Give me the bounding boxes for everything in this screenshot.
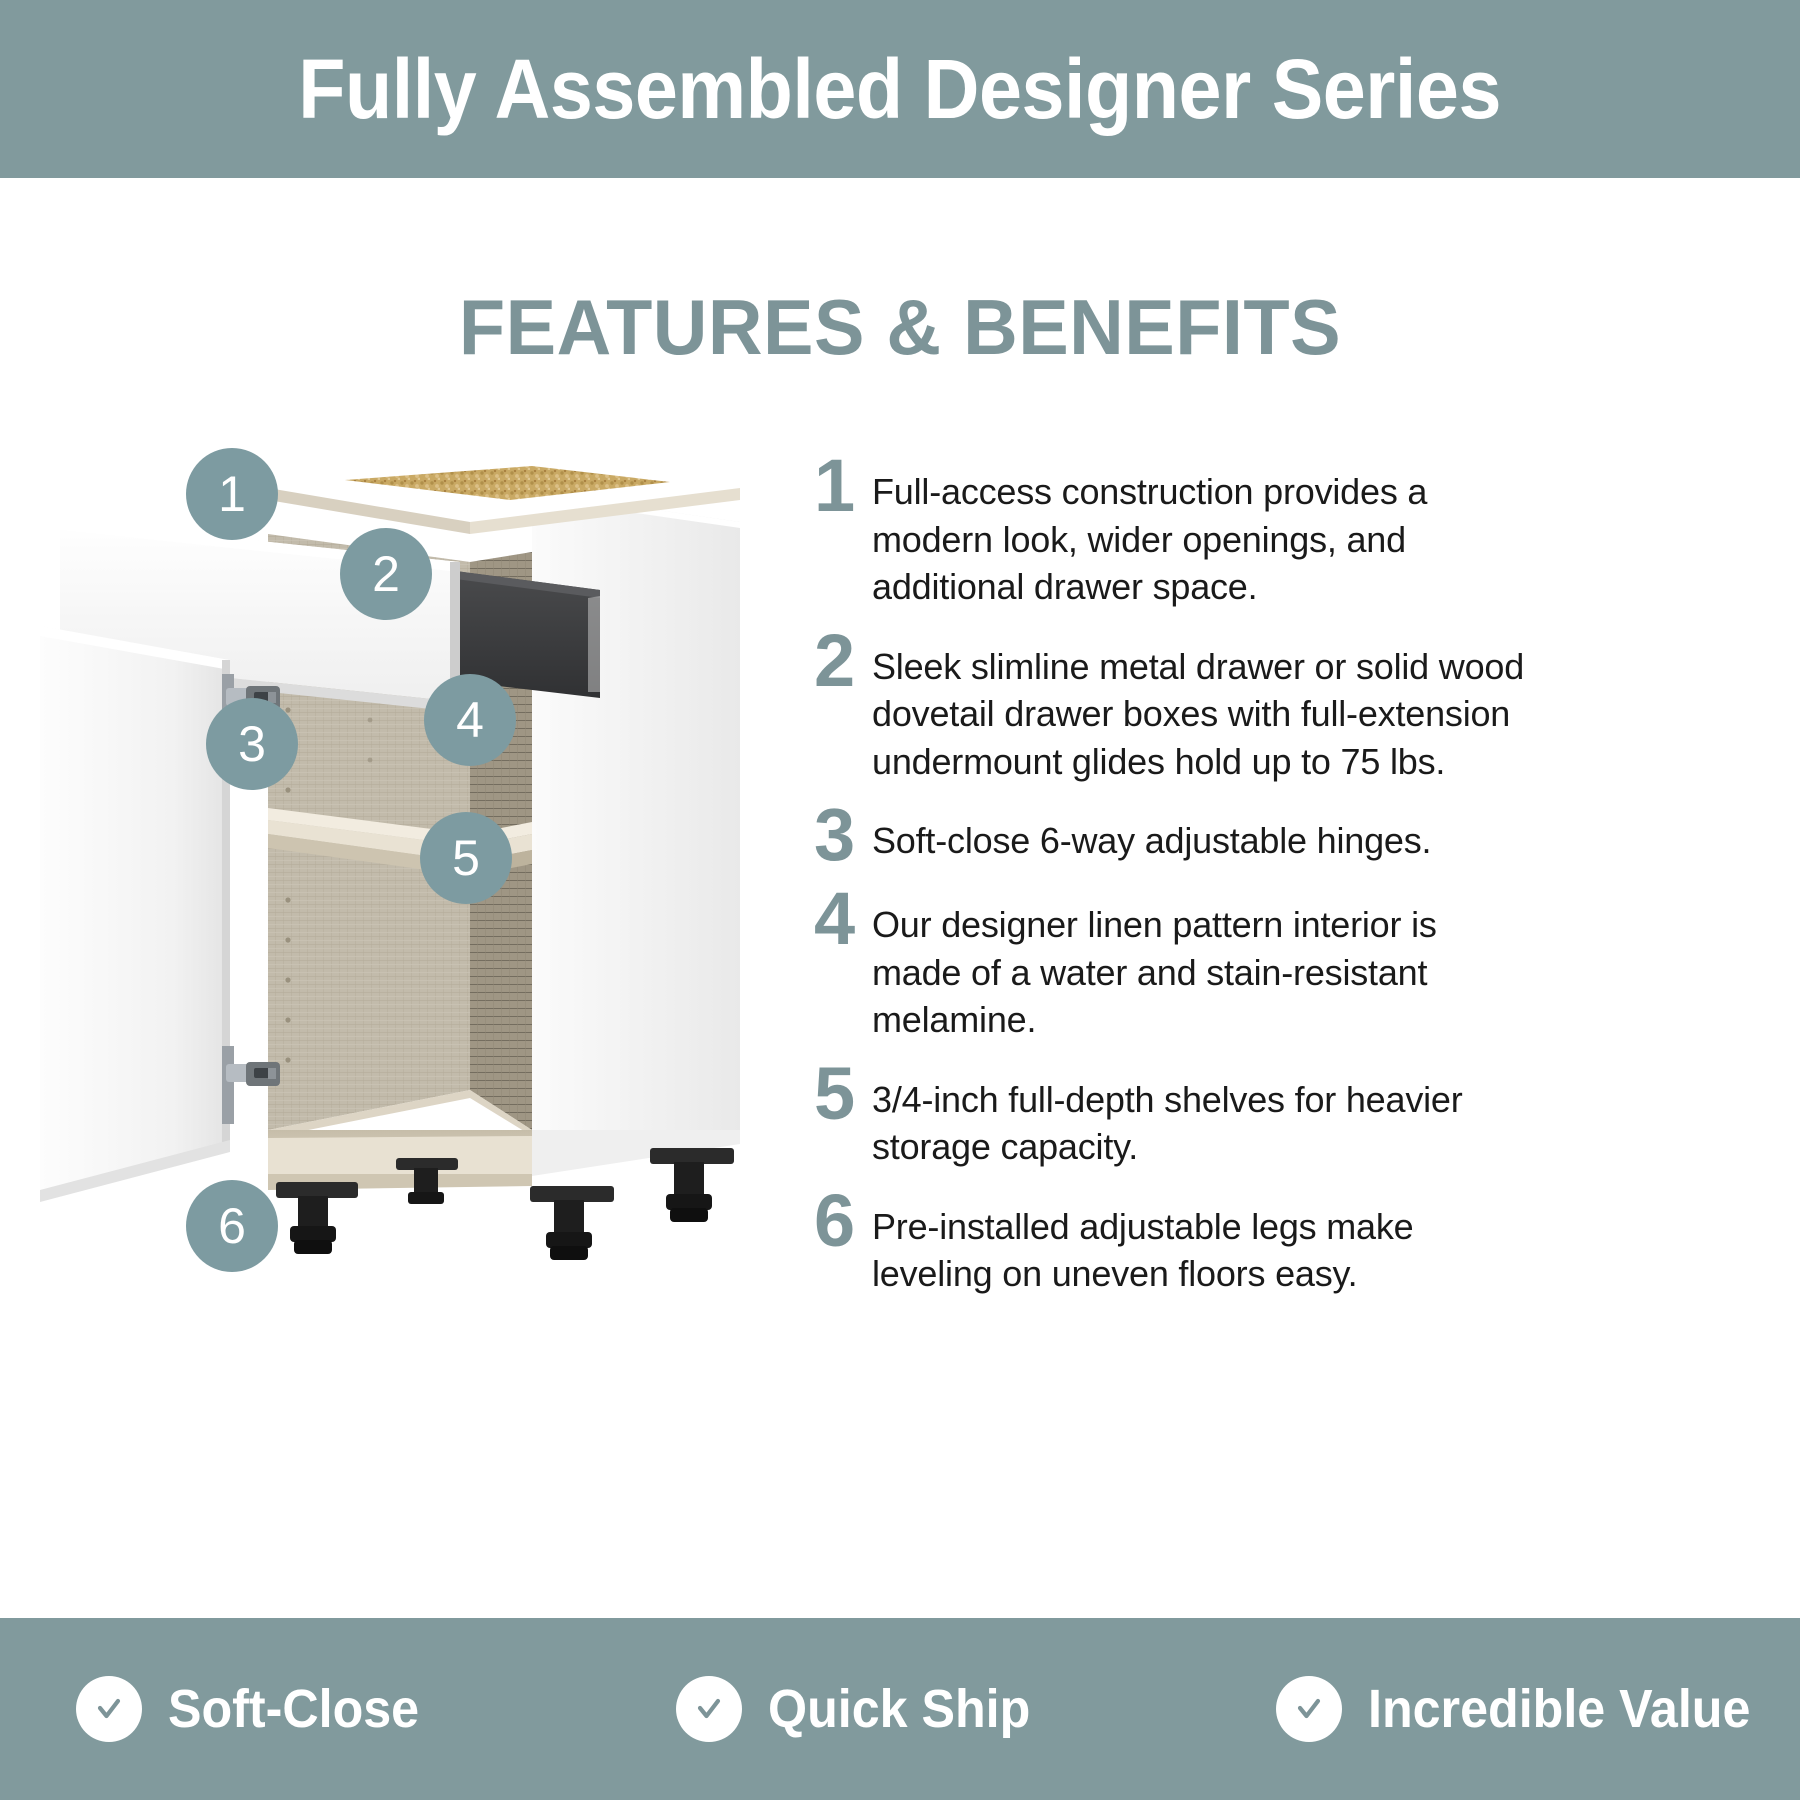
page-title: Fully Assembled Designer Series (299, 41, 1502, 138)
callout-badge-3[interactable]: 3 (206, 698, 298, 790)
check-circle-icon (676, 1676, 742, 1742)
callout-badge-6[interactable]: 6 (186, 1180, 278, 1272)
feature-text-2: Sleek slimline metal drawer or solid woo… (872, 627, 1530, 786)
feature-item-2: 2 Sleek slimline metal drawer or solid w… (800, 627, 1530, 786)
feature-item-3: 3 Soft-close 6-way adjustable hinges. (800, 801, 1530, 869)
callout-badge-1[interactable]: 1 (186, 448, 278, 540)
feature-number-6: 6 (800, 1187, 872, 1255)
feature-item-4: 4 Our designer linen pattern interior is… (800, 885, 1530, 1044)
feature-number-3: 3 (800, 801, 872, 869)
footer-label-quick-ship: Quick Ship (768, 1678, 1030, 1740)
feature-text-1: Full-access construction provides a mode… (872, 452, 1530, 611)
footer-badge-incredible-value: Incredible Value (1200, 1676, 1800, 1742)
footer-badge-soft-close: Soft-Close (0, 1676, 600, 1742)
feature-number-1: 1 (800, 452, 872, 520)
adjustable-leg-front-right (530, 1186, 614, 1260)
footer-badge-quick-ship: Quick Ship (600, 1676, 1200, 1742)
callout-badge-5[interactable]: 5 (420, 812, 512, 904)
feature-item-1: 1 Full-access construction provides a mo… (800, 452, 1530, 611)
adjustable-leg-back-right (650, 1148, 734, 1222)
adjustable-leg-front-left (276, 1182, 358, 1254)
feature-text-6: Pre-installed adjustable legs make level… (872, 1187, 1530, 1298)
features-list: 1 Full-access construction provides a mo… (800, 452, 1530, 1314)
feature-text-4: Our designer linen pattern interior is m… (872, 885, 1530, 1044)
feature-number-5: 5 (800, 1060, 872, 1128)
feature-number-4: 4 (800, 885, 872, 953)
feature-text-5: 3/4-inch full-depth shelves for heavier … (872, 1060, 1530, 1171)
footer-label-incredible-value: Incredible Value (1368, 1678, 1750, 1740)
cabinet-door (40, 626, 230, 1202)
footer-bar: Soft-Close Quick Ship Incredible Value (0, 1618, 1800, 1800)
header-bar: Fully Assembled Designer Series (0, 0, 1800, 178)
callout-badge-2[interactable]: 2 (340, 528, 432, 620)
feature-item-6: 6 Pre-installed adjustable legs make lev… (800, 1187, 1530, 1298)
section-heading: FEATURES & BENEFITS (27, 282, 1773, 373)
feature-number-2: 2 (800, 627, 872, 695)
feature-item-5: 5 3/4-inch full-depth shelves for heavie… (800, 1060, 1530, 1171)
check-circle-icon (76, 1676, 142, 1742)
check-circle-icon (1276, 1676, 1342, 1742)
callout-badge-4[interactable]: 4 (424, 674, 516, 766)
feature-text-3: Soft-close 6-way adjustable hinges. (872, 801, 1530, 865)
footer-label-soft-close: Soft-Close (168, 1678, 419, 1740)
